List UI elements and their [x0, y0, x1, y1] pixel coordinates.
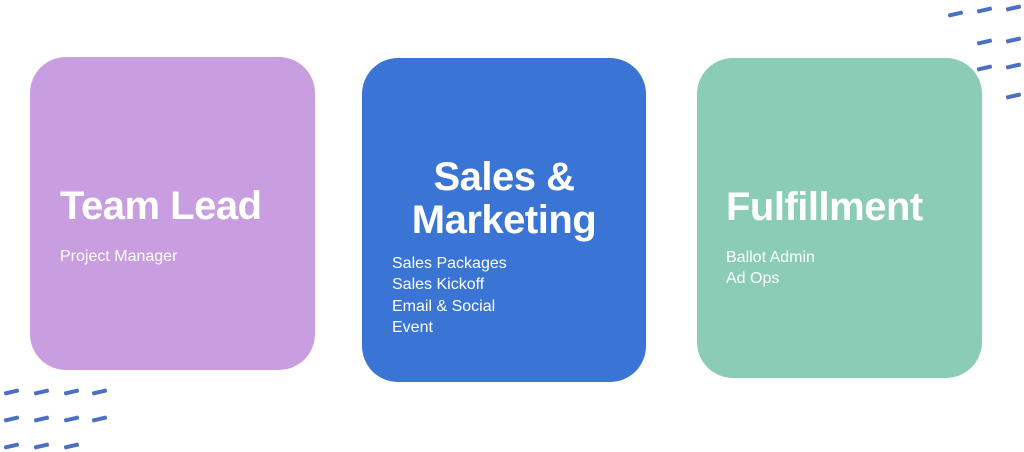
card-fulfillment-items: Ballot Admin Ad Ops	[726, 247, 953, 289]
card-sales-marketing-items: Sales Packages Sales Kickoff Email & Soc…	[392, 253, 616, 337]
list-item: Sales Packages	[392, 253, 616, 274]
list-item: Ad Ops	[726, 268, 953, 289]
dash-mark	[92, 415, 108, 422]
dash-mark	[1006, 62, 1022, 69]
dash-mark	[64, 415, 80, 422]
dash-mark	[1006, 4, 1022, 11]
dash-mark	[1006, 92, 1022, 99]
dash-mark	[34, 388, 50, 395]
dash-mark	[1006, 36, 1022, 43]
dash-mark	[34, 442, 50, 449]
dash-mark	[977, 6, 993, 13]
list-item: Event	[392, 317, 616, 338]
card-sales-marketing-title-line1: Sales &	[433, 155, 574, 199]
dash-mark	[34, 415, 50, 422]
card-sales-marketing-title: Sales & Marketing	[392, 156, 616, 242]
dash-mark	[92, 388, 108, 395]
card-team-lead[interactable]: Team Lead Project Manager	[30, 57, 315, 370]
dash-mark	[4, 442, 20, 449]
dash-mark	[977, 64, 993, 71]
dash-mark	[64, 442, 80, 449]
dash-mark	[4, 415, 20, 422]
list-item: Sales Kickoff	[392, 274, 616, 295]
card-sales-marketing[interactable]: Sales & Marketing Sales Packages Sales K…	[362, 58, 646, 382]
card-team-lead-title: Team Lead	[60, 185, 285, 228]
slide-canvas: Team Lead Project Manager Sales & Market…	[0, 0, 1024, 451]
card-team-lead-content: Team Lead Project Manager	[30, 185, 315, 267]
card-fulfillment-content: Fulfillment Ballot Admin Ad Ops	[697, 186, 982, 289]
dash-mark	[4, 388, 20, 395]
list-item: Project Manager	[60, 246, 285, 267]
card-sales-marketing-title-line2: Marketing	[412, 198, 596, 242]
card-sales-marketing-content: Sales & Marketing Sales Packages Sales K…	[362, 156, 646, 338]
card-fulfillment[interactable]: Fulfillment Ballot Admin Ad Ops	[697, 58, 982, 378]
list-item: Ballot Admin	[726, 247, 953, 268]
dash-mark	[64, 388, 80, 395]
dash-mark	[977, 38, 993, 45]
dash-mark	[948, 10, 964, 17]
dashed-dot-pattern-bottom-left-icon	[4, 390, 129, 452]
card-team-lead-items: Project Manager	[60, 246, 285, 267]
card-fulfillment-title: Fulfillment	[726, 186, 953, 229]
list-item: Email & Social	[392, 296, 616, 317]
